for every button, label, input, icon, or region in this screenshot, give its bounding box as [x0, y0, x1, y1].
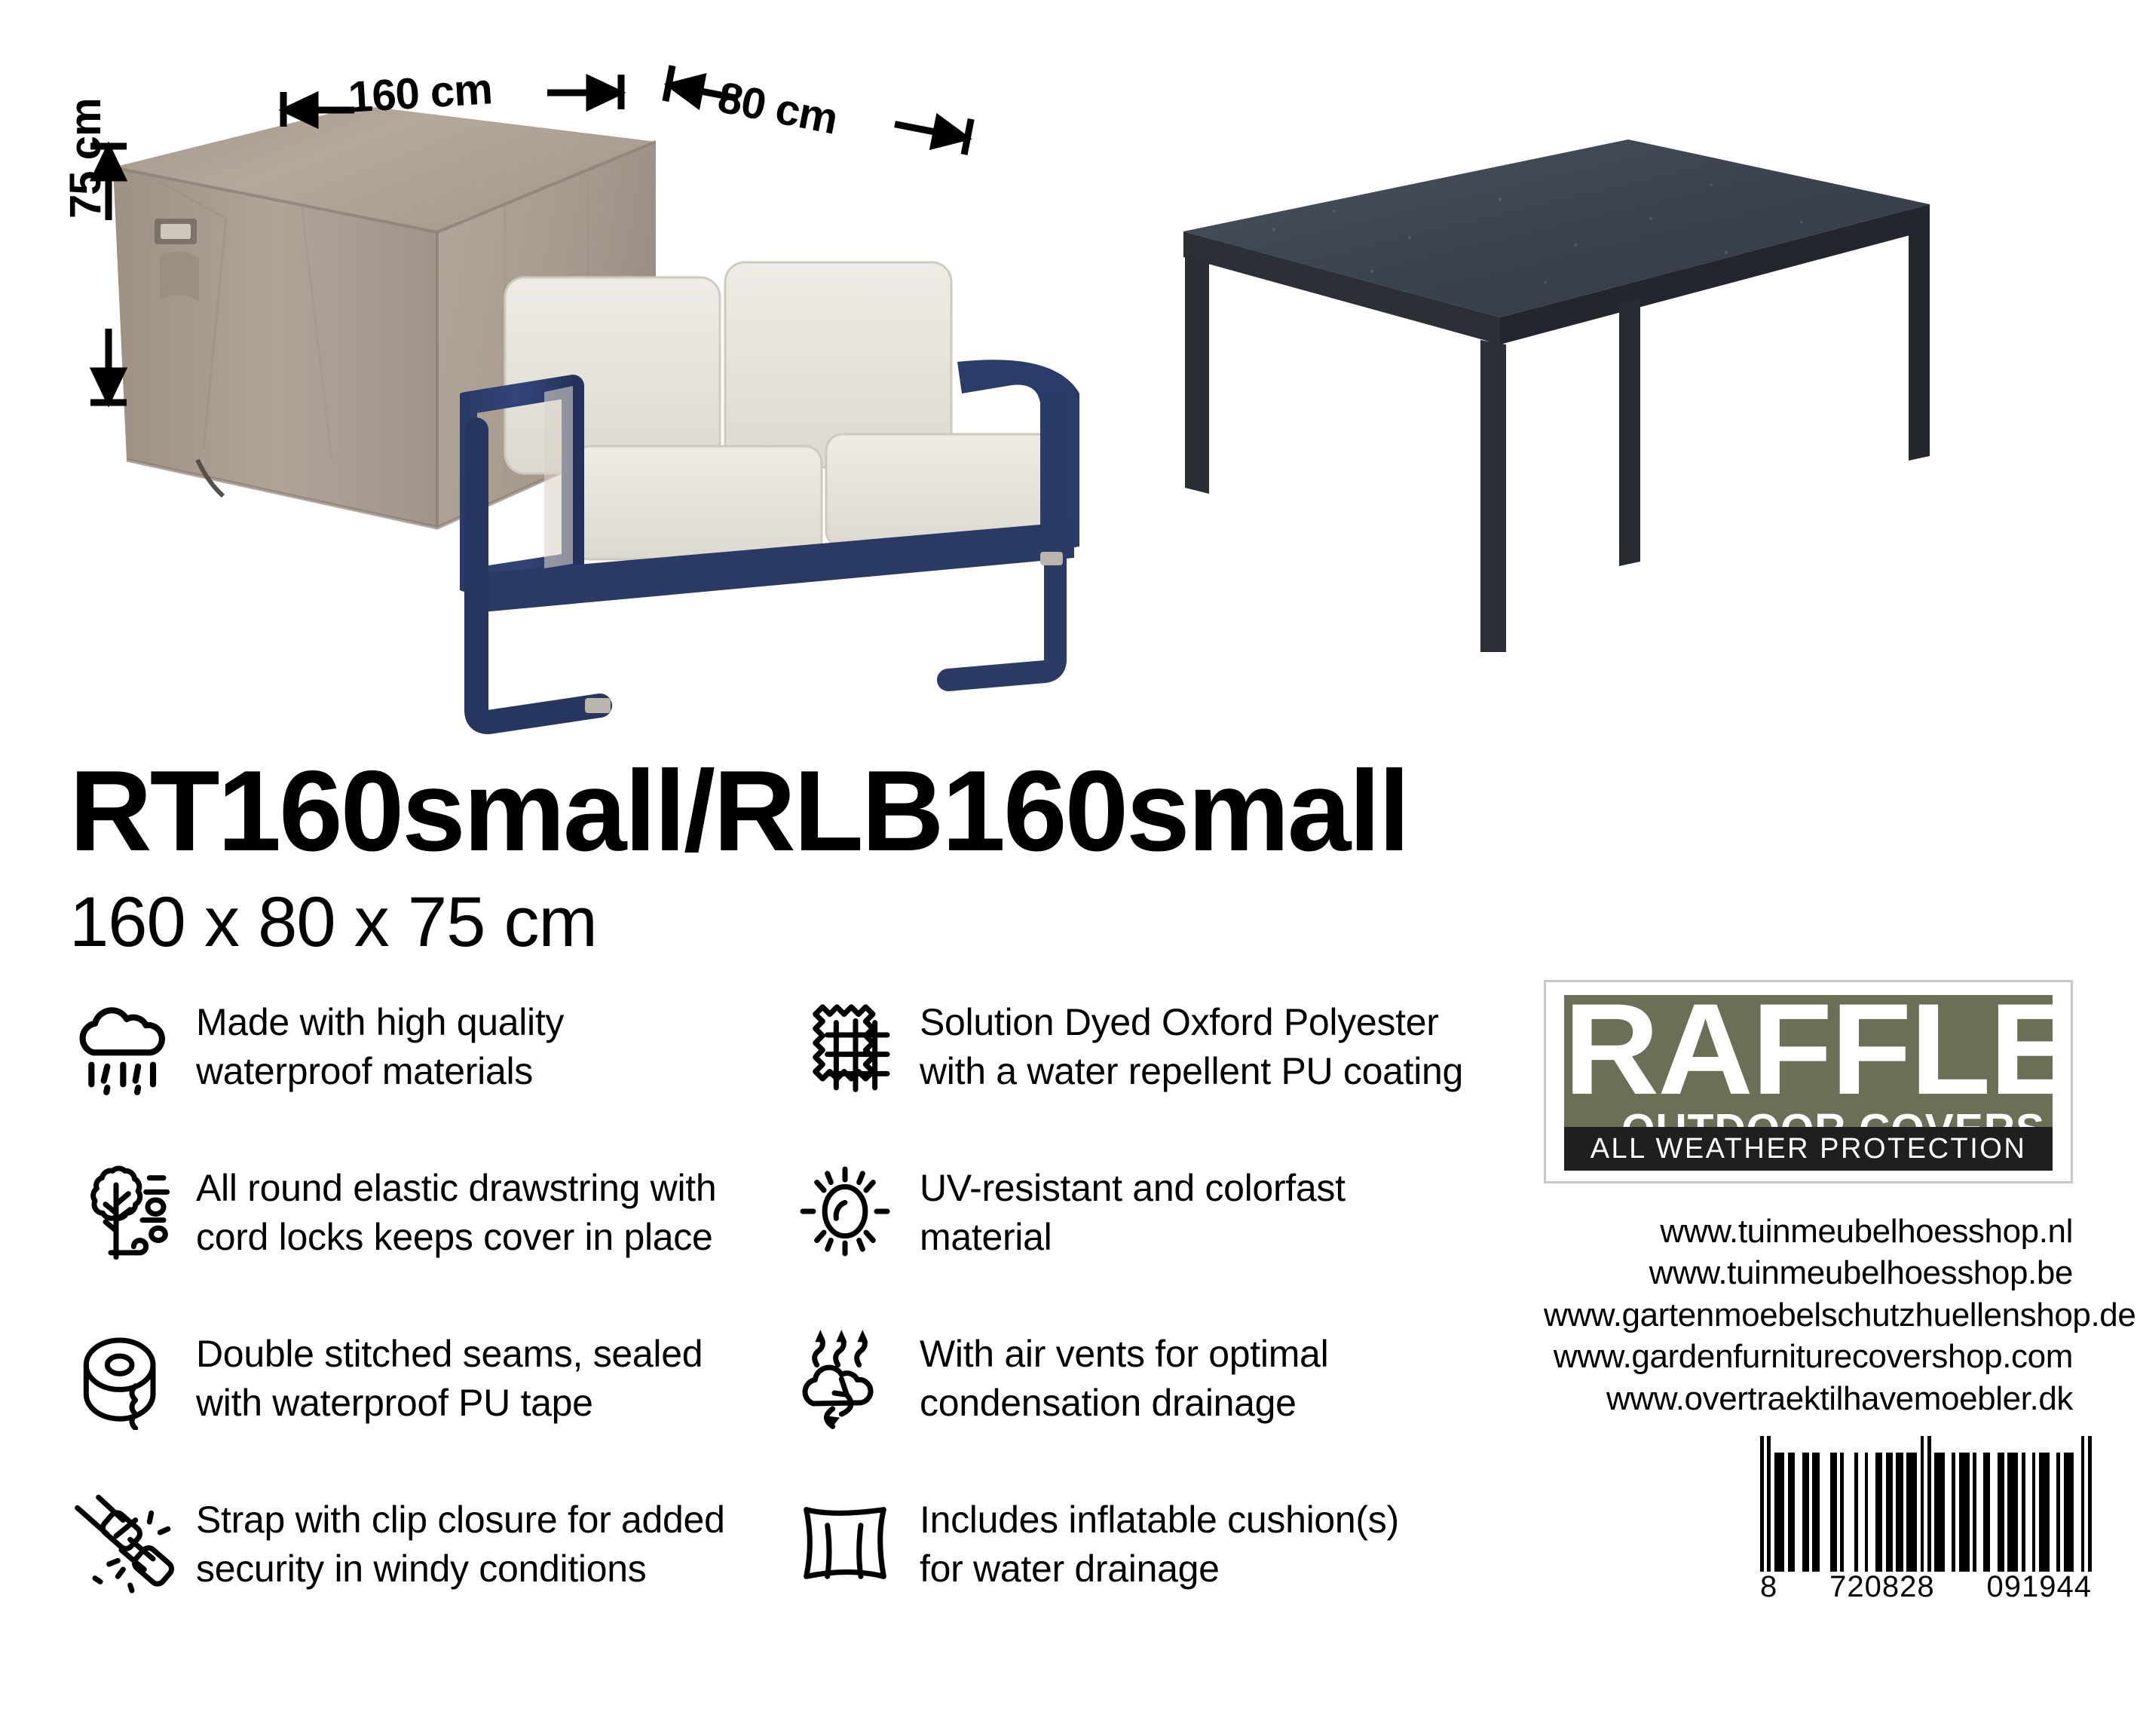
feature-strap-clip-closure: Strap with clip closure for added securi…: [65, 1483, 773, 1631]
feature-inflatable-cushion: Includes inflatable cushion(s) for water…: [788, 1483, 1497, 1631]
height-arrow-bottom: [84, 324, 137, 407]
logo-green-field: RAFFLES OUTDOOR COVERS ALL WEATHER PROTE…: [1564, 995, 2053, 1171]
air-vent-cloud-icon: [788, 1321, 902, 1434]
title-block: RT160small/RLB160small 160 x 80 x 75 cm: [69, 754, 1652, 957]
barcode-digits: 8 720828 091944: [1760, 1570, 2092, 1604]
feature-column-left: Made with high quality waterproof materi…: [65, 986, 773, 1649]
brand-strapline-bar: ALL WEATHER PROTECTION: [1564, 1127, 2053, 1171]
barcode-block: 8 720828 091944: [1760, 1436, 2092, 1604]
feature-text: Double stitched seams, sealed with water…: [178, 1318, 773, 1428]
website-dk[interactable]: www.overtraektilhavemoebler.dk: [1544, 1378, 2073, 1419]
website-list: www.tuinmeubelhoesshop.nl www.tuinmeubel…: [1544, 1211, 2073, 1419]
feature-text: All round elastic drawstring with cord l…: [178, 1152, 773, 1262]
website-com[interactable]: www.gardenfurniturecovershop.com: [1544, 1336, 2073, 1377]
tape-roll-icon: [65, 1321, 178, 1434]
sun-icon: [788, 1155, 902, 1268]
product-code: RT160small/RLB160small: [69, 754, 1652, 868]
feature-elastic-drawstring: All round elastic drawstring with cord l…: [65, 1152, 773, 1300]
website-de[interactable]: www.gartenmoebelschutzhuellenshop.de: [1544, 1294, 2073, 1336]
feature-uv-resistant: UV-resistant and colorfast material: [788, 1152, 1497, 1300]
brand-name: RAFFLES: [1564, 995, 2053, 1114]
website-be[interactable]: www.tuinmeubelhoesshop.be: [1544, 1252, 2073, 1294]
cushion-icon: [788, 1486, 902, 1600]
rain-cloud-icon: [65, 989, 178, 1102]
feature-text: Includes inflatable cushion(s) for water…: [902, 1483, 1497, 1594]
barcode-group-2: 720828: [1829, 1570, 1934, 1604]
brand-strapline: ALL WEATHER PROTECTION: [1591, 1133, 2027, 1165]
product-dimensions-text: 160 x 80 x 75 cm: [69, 886, 1652, 957]
feature-column-right: Solution Dyed Oxford Polyester with a wa…: [788, 986, 1497, 1649]
strap-clip-icon: [65, 1486, 178, 1600]
width-arrow-right: [543, 72, 626, 117]
raffles-logo: RAFFLES OUTDOOR COVERS ALL WEATHER PROTE…: [1544, 980, 2073, 1183]
ean13-barcode: [1760, 1436, 2092, 1572]
feature-text: Solution Dyed Oxford Polyester with a wa…: [902, 986, 1497, 1096]
height-dimension-label: 75 cm: [60, 99, 111, 219]
feature-double-stitched-seams: Double stitched seams, sealed with water…: [65, 1318, 773, 1465]
tree-wind-icon: [65, 1155, 178, 1268]
barcode-group-3: 091944: [1987, 1570, 2092, 1604]
feature-text: With air vents for optimal condensation …: [902, 1318, 1497, 1428]
product-hero-image: 160 cm 80 cm 75 cm: [0, 0, 2137, 761]
depth-dimension-label: 80 cm: [714, 72, 841, 144]
depth-arrow-right: [889, 106, 972, 158]
feature-oxford-polyester: Solution Dyed Oxford Polyester with a wa…: [788, 986, 1497, 1134]
feature-air-vents: With air vents for optimal condensation …: [788, 1318, 1497, 1465]
feature-text: Strap with clip closure for added securi…: [178, 1483, 773, 1594]
feature-waterproof-materials: Made with high quality waterproof materi…: [65, 986, 773, 1134]
fabric-swatch-icon: [788, 989, 902, 1102]
brand-panel: RAFFLES OUTDOOR COVERS ALL WEATHER PROTE…: [1544, 980, 2086, 1419]
barcode-group-1: 8: [1760, 1570, 1777, 1604]
feature-text: UV-resistant and colorfast material: [902, 1152, 1497, 1262]
width-dimension-label: 160 cm: [347, 63, 493, 123]
feature-text: Made with high quality waterproof materi…: [178, 986, 773, 1096]
outdoor-table-photo: [1183, 139, 1930, 652]
website-nl[interactable]: www.tuinmeubelhoesshop.nl: [1544, 1211, 2073, 1252]
